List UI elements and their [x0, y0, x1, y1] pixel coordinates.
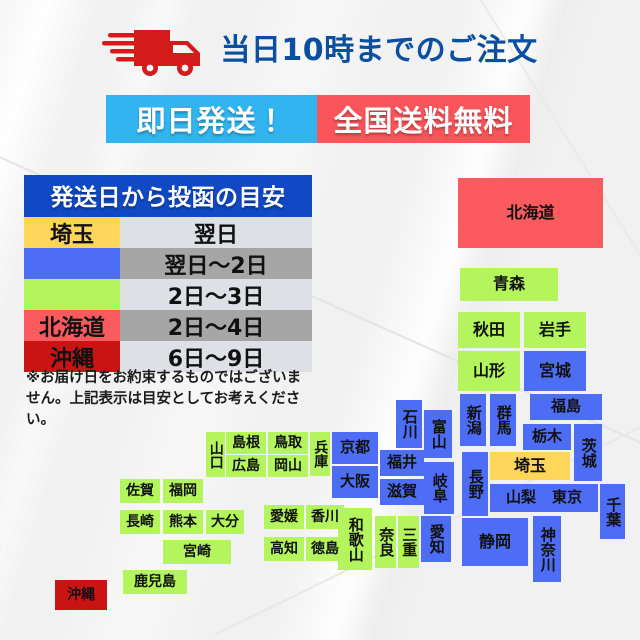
map-prefecture-tile: 徳島 — [306, 537, 344, 561]
map-prefecture-tile: 埼玉 — [490, 452, 570, 480]
map-prefecture-tile: 宮崎 — [163, 540, 231, 564]
map-prefecture-tile: 千葉 — [600, 484, 625, 539]
map-prefecture-tile: 香川 — [306, 505, 344, 529]
map-prefecture-tile: 新潟 — [460, 394, 486, 446]
map-prefecture-tile: 宮城 — [524, 351, 586, 391]
map-prefecture-tile: 福岡 — [163, 479, 203, 503]
map-prefecture-tile: 兵庫 — [310, 432, 330, 476]
map-prefecture-tile: 茨城 — [574, 424, 602, 481]
map-prefecture-tile: 神奈川 — [533, 516, 561, 582]
map-prefecture-tile: 福島 — [530, 394, 602, 420]
map-prefecture-tile: 大分 — [206, 510, 244, 534]
japan-prefecture-map: 北海道青森秋田岩手山形宮城新潟群馬福島栃木茨城埼玉山梨東京千葉神奈川石川富山長野… — [0, 0, 640, 640]
map-prefecture-tile: 栃木 — [523, 424, 571, 450]
map-prefecture-tile: 北海道 — [458, 178, 603, 248]
map-prefecture-tile: 山口 — [206, 432, 225, 477]
map-prefecture-tile: 岡山 — [268, 455, 308, 477]
map-prefecture-tile: 鹿兒島 — [123, 570, 187, 594]
map-prefecture-tile: 秋田 — [458, 312, 520, 348]
map-prefecture-tile: 三重 — [398, 516, 419, 568]
map-prefecture-tile: 京都 — [332, 432, 378, 464]
map-prefecture-tile: 群馬 — [490, 394, 516, 446]
map-prefecture-tile: 鳥取 — [268, 432, 308, 454]
map-prefecture-tile: 岐阜 — [424, 462, 454, 514]
map-prefecture-tile: 高知 — [264, 537, 304, 561]
map-prefecture-tile: 佐賀 — [120, 479, 160, 503]
map-prefecture-tile: 愛媛 — [264, 505, 304, 529]
map-prefecture-tile: 富山 — [424, 410, 452, 458]
map-prefecture-tile: 大阪 — [332, 466, 378, 498]
map-prefecture-tile: 長崎 — [120, 510, 160, 534]
map-prefecture-tile: 広島 — [226, 455, 266, 477]
map-prefecture-tile: 石川 — [396, 400, 422, 448]
map-prefecture-tile: 愛知 — [421, 516, 451, 562]
map-prefecture-tile: 奈良 — [375, 516, 396, 568]
map-prefecture-tile: 滋賀 — [380, 479, 424, 505]
map-prefecture-tile: 青森 — [460, 268, 558, 301]
map-prefecture-tile: 熊本 — [163, 510, 203, 534]
map-prefecture-tile: 山形 — [458, 351, 520, 391]
map-prefecture-tile: 福井 — [380, 450, 424, 476]
map-prefecture-tile: 東京 — [536, 484, 598, 512]
map-prefecture-tile: 静岡 — [462, 518, 528, 566]
map-prefecture-tile: 長野 — [462, 452, 488, 516]
map-prefecture-tile: 沖縄 — [55, 580, 107, 610]
map-prefecture-tile: 島根 — [226, 432, 266, 454]
map-prefecture-tile: 岩手 — [524, 312, 586, 348]
